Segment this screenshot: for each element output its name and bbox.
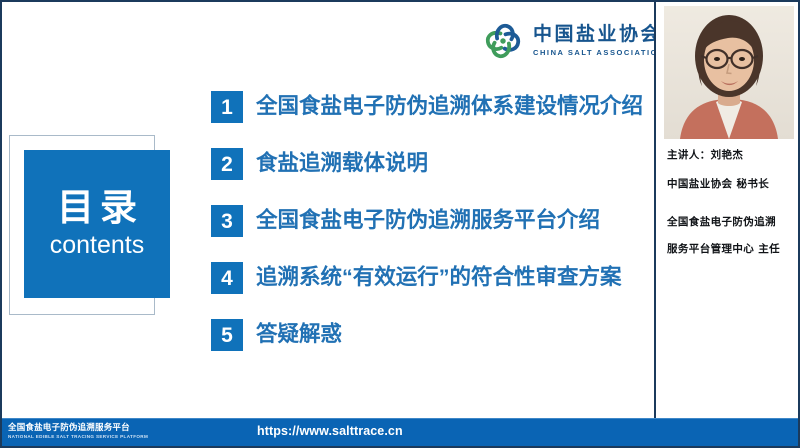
association-name-en: CHINA SALT ASSOCIATION <box>533 49 654 57</box>
agenda-list: 1 全国食盐电子防伪追溯体系建设情况介绍 2 食盐追溯载体说明 3 全国食盐电子… <box>211 91 641 376</box>
agenda-item[interactable]: 1 全国食盐电子防伪追溯体系建设情况介绍 <box>211 91 641 148</box>
agenda-number-badge: 5 <box>211 319 243 351</box>
agenda-item-label: 全国食盐电子防伪追溯服务平台介绍 <box>256 204 600 237</box>
footer-brand: 全国食盐电子防伪追溯服务平台 NATIONAL EDIBLE SALT TRAC… <box>8 423 148 439</box>
footer-top-divider <box>2 418 798 419</box>
association-name-cn: 中国盐业协会 <box>533 25 654 44</box>
agenda-item[interactable]: 3 全国食盐电子防伪追溯服务平台介绍 <box>211 205 641 262</box>
association-logo-text: 中国盐业协会 CHINA SALT ASSOCIATION <box>533 25 654 57</box>
agenda-item-label: 答疑解惑 <box>256 318 342 351</box>
speaker-panel: 主讲人：刘艳杰 中国盐业协会 秘书长 全国食盐电子防伪追溯 服务平台管理中心 主… <box>654 2 798 446</box>
speaker-org-line2: 服务平台管理中心 主任 <box>667 244 795 255</box>
speaker-org-line1: 全国食盐电子防伪追溯 <box>667 217 795 228</box>
agenda-number-badge: 1 <box>211 91 243 123</box>
toc-title-en: contents <box>50 232 145 258</box>
footer-brand-cn: 全国食盐电子防伪追溯服务平台 <box>8 423 148 432</box>
salt-association-flower-icon <box>482 20 524 62</box>
agenda-item-label: 全国食盐电子防伪追溯体系建设情况介绍 <box>256 90 643 123</box>
agenda-item[interactable]: 2 食盐追溯载体说明 <box>211 148 641 205</box>
agenda-item-label: 食盐追溯载体说明 <box>256 147 428 180</box>
footer-url[interactable]: https://www.salttrace.cn <box>257 424 403 438</box>
agenda-number-badge: 3 <box>211 205 243 237</box>
toc-badge: 目录 contents <box>24 150 170 298</box>
speaker-info-block: 主讲人：刘艳杰 中国盐业协会 秘书长 全国食盐电子防伪追溯 服务平台管理中心 主… <box>667 150 795 254</box>
agenda-number-badge: 4 <box>211 262 243 294</box>
agenda-number-badge: 2 <box>211 148 243 180</box>
footer-bar: 全国食盐电子防伪追溯服务平台 NATIONAL EDIBLE SALT TRAC… <box>2 418 798 446</box>
presentation-screen: 目录 contents <box>0 0 800 448</box>
toc-title-cn: 目录 <box>51 189 143 228</box>
speaker-title: 中国盐业协会 秘书长 <box>667 179 795 190</box>
speaker-name: 主讲人：刘艳杰 <box>667 150 795 161</box>
footer-brand-en: NATIONAL EDIBLE SALT TRACING SERVICE PLA… <box>8 435 148 440</box>
agenda-item-label: 追溯系统“有效运行”的符合性审查方案 <box>256 261 622 294</box>
speaker-portrait-icon <box>664 6 794 139</box>
association-logo: 中国盐业协会 CHINA SALT ASSOCIATION <box>482 20 654 62</box>
agenda-item[interactable]: 4 追溯系统“有效运行”的符合性审查方案 <box>211 262 641 319</box>
slide-canvas: 目录 contents <box>2 2 654 446</box>
speaker-video-feed[interactable] <box>664 6 794 139</box>
agenda-item[interactable]: 5 答疑解惑 <box>211 319 641 376</box>
